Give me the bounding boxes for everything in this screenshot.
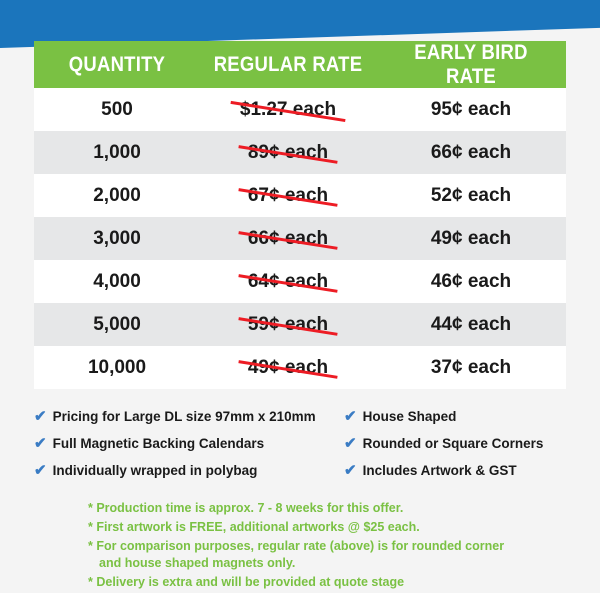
cell-quantity: 10,000 xyxy=(34,357,200,379)
cell-quantity: 1,000 xyxy=(34,142,200,164)
table-row: 500 $1.27 each 95¢ each xyxy=(34,88,566,131)
footnotes: * Production time is approx. 7 - 8 weeks… xyxy=(88,500,558,593)
cell-quantity: 5,000 xyxy=(34,314,200,336)
cell-regular-rate-value: 66¢ each xyxy=(244,228,332,250)
cell-quantity: 4,000 xyxy=(34,271,200,293)
list-item: ✔ Full Magnetic Backing Calendars xyxy=(34,436,344,451)
footnote-text: * First artwork is FREE, additional artw… xyxy=(88,520,420,534)
feature-list: ✔ Pricing for Large DL size 97mm x 210mm… xyxy=(34,409,579,490)
check-icon: ✔ xyxy=(34,436,47,451)
cell-regular-rate-value: 59¢ each xyxy=(244,314,332,336)
cell-regular-rate-value: 67¢ each xyxy=(244,185,332,207)
table-row: 1,000 89¢ each 66¢ each xyxy=(34,131,566,174)
cell-early-bird-rate: 49¢ each xyxy=(376,228,566,250)
table-row: 4,000 64¢ each 46¢ each xyxy=(34,260,566,303)
footnote-line: * Delivery is extra and will be provided… xyxy=(88,574,558,592)
cell-regular-rate-value: 89¢ each xyxy=(244,142,332,164)
feature-column-right: ✔ House Shaped ✔ Rounded or Square Corne… xyxy=(344,409,579,490)
cell-regular-rate: 64¢ each xyxy=(200,271,376,293)
cell-regular-rate-value: 64¢ each xyxy=(244,271,332,293)
cell-regular-rate-value: 49¢ each xyxy=(244,357,332,379)
cell-early-bird-rate: 66¢ each xyxy=(376,142,566,164)
cell-regular-rate: 59¢ each xyxy=(200,314,376,336)
footnote-text-continued: and house shaped magnets only. xyxy=(88,555,558,573)
cell-quantity: 2,000 xyxy=(34,185,200,207)
list-item-label: House Shaped xyxy=(363,409,457,424)
footnote-line: * Production time is approx. 7 - 8 weeks… xyxy=(88,500,558,518)
footnote-line: * For comparison purposes, regular rate … xyxy=(88,538,558,574)
cell-early-bird-rate: 52¢ each xyxy=(376,185,566,207)
check-icon: ✔ xyxy=(344,463,357,478)
cell-regular-rate-value: $1.27 each xyxy=(236,99,340,121)
list-item-label: Pricing for Large DL size 97mm x 210mm xyxy=(53,409,316,424)
table-header-row: QUANTITY REGULAR RATE EARLY BIRD RATE xyxy=(34,41,566,88)
table-row: 10,000 49¢ each 37¢ each xyxy=(34,346,566,389)
table-row: 5,000 59¢ each 44¢ each xyxy=(34,303,566,346)
table-row: 2,000 67¢ each 52¢ each xyxy=(34,174,566,217)
column-header-quantity: QUANTITY xyxy=(44,53,190,77)
cell-early-bird-rate: 37¢ each xyxy=(376,357,566,379)
footnote-text: * For comparison purposes, regular rate … xyxy=(88,539,504,553)
cell-quantity: 3,000 xyxy=(34,228,200,250)
cell-regular-rate: $1.27 each xyxy=(200,99,376,121)
footnote-text: * Production time is approx. 7 - 8 weeks… xyxy=(88,501,403,515)
list-item: ✔ Rounded or Square Corners xyxy=(344,436,579,451)
list-item: ✔ Individually wrapped in polybag xyxy=(34,463,344,478)
cell-quantity: 500 xyxy=(34,99,200,121)
list-item: ✔ Includes Artwork & GST xyxy=(344,463,579,478)
column-header-regular-rate: REGULAR RATE xyxy=(211,53,366,77)
cell-regular-rate: 67¢ each xyxy=(200,185,376,207)
cell-early-bird-rate: 95¢ each xyxy=(376,99,566,121)
table-row: 3,000 66¢ each 49¢ each xyxy=(34,217,566,260)
list-item-label: Full Magnetic Backing Calendars xyxy=(53,436,265,451)
list-item-label: Rounded or Square Corners xyxy=(363,436,544,451)
footnote-line: * First artwork is FREE, additional artw… xyxy=(88,519,558,537)
check-icon: ✔ xyxy=(34,409,47,424)
list-item: ✔ House Shaped xyxy=(344,409,579,424)
feature-column-left: ✔ Pricing for Large DL size 97mm x 210mm… xyxy=(34,409,344,490)
footnote-text: * Delivery is extra and will be provided… xyxy=(88,575,404,589)
column-header-early-bird-rate: EARLY BIRD RATE xyxy=(387,41,554,89)
check-icon: ✔ xyxy=(34,463,47,478)
cell-regular-rate: 49¢ each xyxy=(200,357,376,379)
list-item-label: Includes Artwork & GST xyxy=(363,463,517,478)
list-item: ✔ Pricing for Large DL size 97mm x 210mm xyxy=(34,409,344,424)
cell-early-bird-rate: 44¢ each xyxy=(376,314,566,336)
list-item-label: Individually wrapped in polybag xyxy=(53,463,258,478)
cell-early-bird-rate: 46¢ each xyxy=(376,271,566,293)
check-icon: ✔ xyxy=(344,436,357,451)
pricing-table: QUANTITY REGULAR RATE EARLY BIRD RATE 50… xyxy=(34,41,566,389)
cell-regular-rate: 66¢ each xyxy=(200,228,376,250)
check-icon: ✔ xyxy=(344,409,357,424)
cell-regular-rate: 89¢ each xyxy=(200,142,376,164)
